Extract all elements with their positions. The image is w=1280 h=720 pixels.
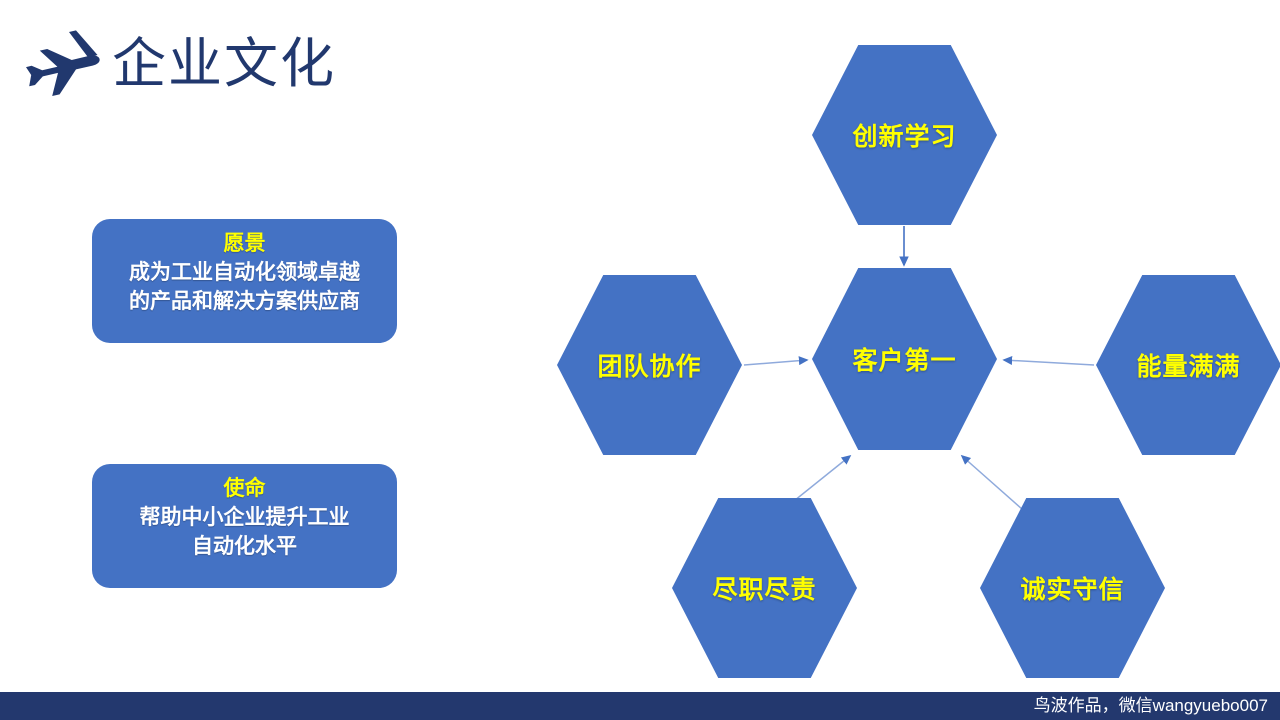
hex-node-right-label: 能量满满 [1136,347,1240,383]
footer-credit: 鸟波作品，微信wangyuebo007 [1034,694,1268,718]
hexagon-diagram: 创新学习 团队协作 客户第一 能量满满 尽职尽责 诚实守信 [0,0,1280,700]
hex-node-bottom-right[interactable]: 诚实守信 [980,498,1165,678]
hex-node-bottom-right-label: 诚实守信 [1020,570,1124,606]
hex-node-top[interactable]: 创新学习 [812,45,997,225]
hex-node-left[interactable]: 团队协作 [557,275,742,455]
hex-node-bottom-left-label: 尽职尽责 [712,570,816,606]
hex-node-center[interactable]: 客户第一 [812,268,997,450]
hex-node-left-label: 团队协作 [597,347,701,383]
hex-node-top-label: 创新学习 [852,117,956,153]
hex-node-center-label: 客户第一 [852,341,956,377]
footer-bar: 鸟波作品，微信wangyuebo007 [0,692,1280,720]
hex-node-bottom-left[interactable]: 尽职尽责 [672,498,857,678]
hex-node-right[interactable]: 能量满满 [1096,275,1280,455]
